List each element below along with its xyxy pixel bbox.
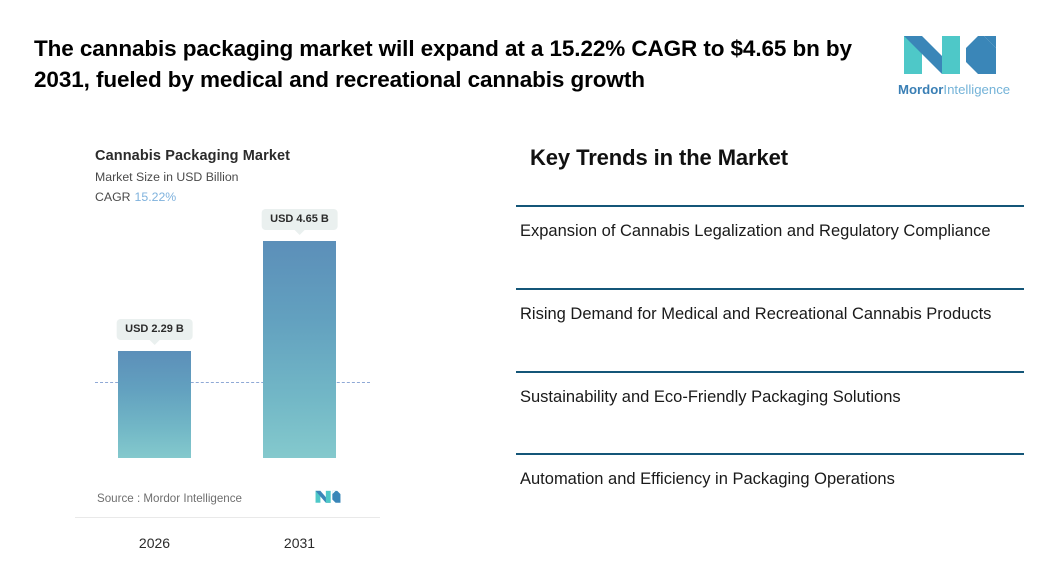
trend-list-item: Sustainability and Eco-Friendly Packagin… xyxy=(516,371,1024,410)
bar-value-label: USD 4.65 B xyxy=(261,209,338,230)
trend-text: Sustainability and Eco-Friendly Packagin… xyxy=(520,373,1024,410)
brand-wordmark: MordorIntelligence xyxy=(898,82,1018,98)
trend-list-item: Rising Demand for Medical and Recreation… xyxy=(516,288,1024,327)
chart-cagr-row: CAGR15.22% xyxy=(95,190,176,204)
trend-text: Automation and Efficiency in Packaging O… xyxy=(520,455,1024,492)
page-header: The cannabis packaging market will expan… xyxy=(0,0,1054,118)
chart-source-label: Source : Mordor Intelligence xyxy=(97,492,242,505)
bar-2026[interactable] xyxy=(118,351,191,458)
chart-cagr-label: CAGR xyxy=(95,190,131,204)
x-axis-tick: 2031 xyxy=(263,535,336,551)
chart-plot-area: USD 2.29 B USD 4.65 B 2026 2031 xyxy=(75,203,380,458)
chart-title: Cannabis Packaging Market xyxy=(95,148,290,164)
bar-value-label: USD 2.29 B xyxy=(116,319,193,340)
trend-list-item: Automation and Efficiency in Packaging O… xyxy=(516,453,1024,492)
trend-list-item: Expansion of Cannabis Legalization and R… xyxy=(516,205,1024,244)
wordmark-intelligence: Intelligence xyxy=(943,82,1010,97)
chart-card: Cannabis Packaging Market Market Size in… xyxy=(75,133,380,518)
x-axis-tick: 2026 xyxy=(118,535,191,551)
trend-text: Expansion of Cannabis Legalization and R… xyxy=(520,207,1024,244)
key-trends-panel: Key Trends in the Market Expansion of Ca… xyxy=(516,145,1024,171)
mordor-intelligence-logo-icon xyxy=(902,26,998,80)
mordor-intelligence-mark-icon xyxy=(315,488,341,505)
trend-text: Rising Demand for Medical and Recreation… xyxy=(520,290,1024,327)
bar-2031[interactable] xyxy=(263,241,336,458)
key-trends-heading: Key Trends in the Market xyxy=(530,145,1024,171)
chart-subtitle: Market Size in USD Billion xyxy=(95,170,239,184)
page-title: The cannabis packaging market will expan… xyxy=(34,33,889,95)
brand-logo: MordorIntelligence xyxy=(898,26,1018,106)
chart-cagr-value: 15.22% xyxy=(135,190,177,204)
wordmark-mordor: Mordor xyxy=(898,82,943,97)
